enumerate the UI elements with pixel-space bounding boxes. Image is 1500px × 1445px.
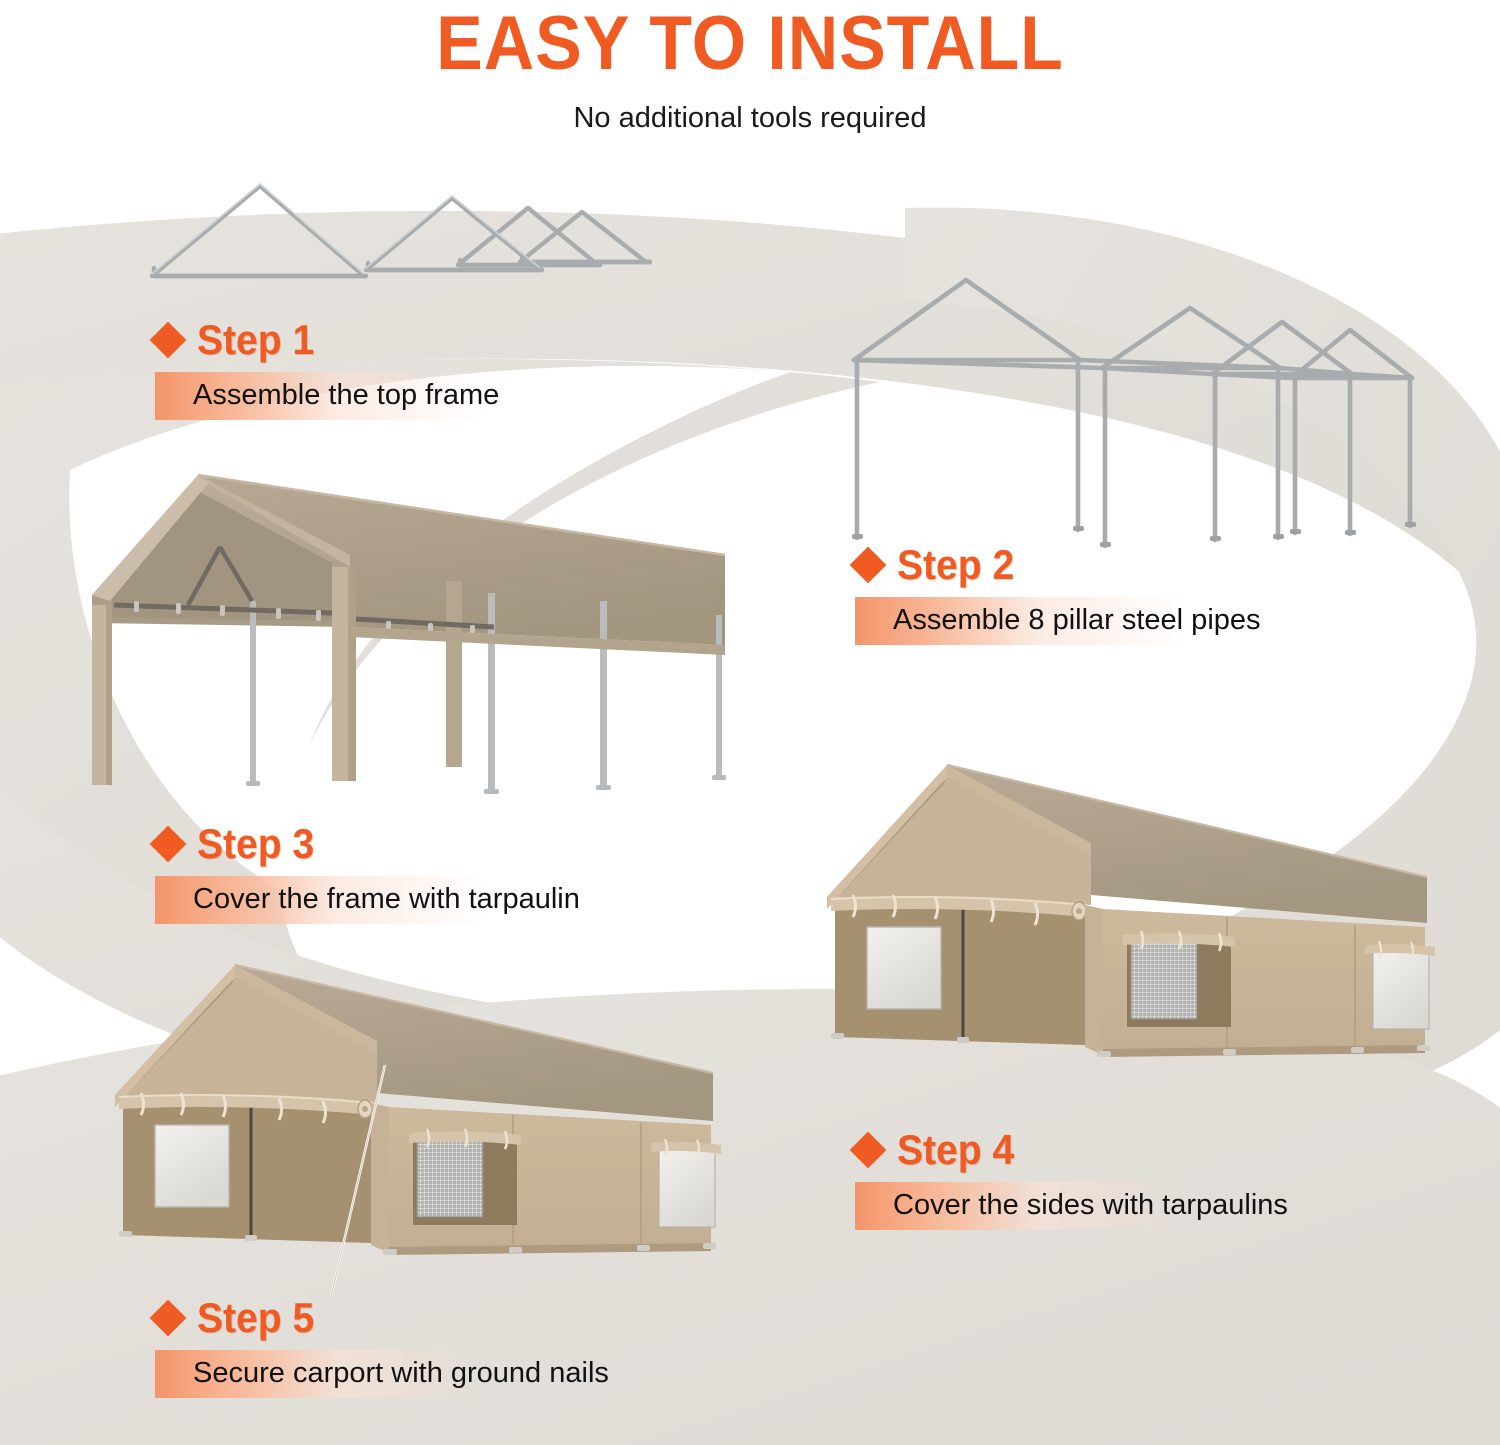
illustration-step-3-roof-tarp [80, 455, 770, 815]
step-4-description: Cover the sides with tarpaulins [893, 1180, 1288, 1230]
step-4-heading: Step 4 [855, 1128, 1495, 1172]
step-2-heading: Step 2 [855, 543, 1475, 587]
step-block-1: Step 1 Assemble the top frame [155, 318, 715, 424]
step-3-description: Cover the frame with tarpaulin [193, 874, 580, 924]
header: EASY TO INSTALL No additional tools requ… [0, 6, 1500, 135]
diamond-bullet-icon [850, 1132, 887, 1169]
step-2-label: Step 2 [897, 544, 1014, 586]
illustration-step-1-roof-trusses [130, 150, 690, 300]
step-3-body: Cover the frame with tarpaulin [155, 872, 775, 928]
step-3-label: Step 3 [197, 823, 314, 865]
diamond-bullet-icon [150, 322, 187, 359]
step-4-body: Cover the sides with tarpaulins [855, 1178, 1495, 1234]
illustration-step-2-pillar-frame [840, 238, 1460, 548]
step-3-heading: Step 3 [155, 822, 775, 866]
diamond-bullet-icon [150, 826, 187, 863]
illustration-step-4-side-walls [795, 745, 1475, 1115]
step-5-label: Step 5 [197, 1297, 314, 1339]
step-4-label: Step 4 [897, 1129, 1014, 1171]
step-5-heading: Step 5 [155, 1296, 795, 1340]
diamond-bullet-icon [850, 547, 887, 584]
step-block-5: Step 5 Secure carport with ground nails [155, 1296, 795, 1402]
page-subtitle: No additional tools required [0, 102, 1500, 135]
step-2-description: Assemble 8 pillar steel pipes [893, 595, 1261, 645]
step-5-description: Secure carport with ground nails [193, 1348, 609, 1398]
step-block-4: Step 4 Cover the sides with tarpaulins [855, 1128, 1495, 1234]
step-block-3: Step 3 Cover the frame with tarpaulin [155, 822, 775, 928]
diamond-bullet-icon [150, 1300, 187, 1337]
step-2-body: Assemble 8 pillar steel pipes [855, 593, 1475, 649]
page-title: EASY TO INSTALL [60, 6, 1440, 82]
illustration-step-5-ground-anchors [85, 945, 765, 1305]
step-1-body: Assemble the top frame [155, 368, 715, 424]
step-block-2: Step 2 Assemble 8 pillar steel pipes [855, 543, 1475, 649]
step-1-heading: Step 1 [155, 318, 715, 362]
infographic-canvas: EASY TO INSTALL No additional tools requ… [0, 0, 1500, 1445]
step-5-body: Secure carport with ground nails [155, 1346, 795, 1402]
step-1-description: Assemble the top frame [193, 370, 499, 420]
step-1-label: Step 1 [197, 319, 314, 361]
